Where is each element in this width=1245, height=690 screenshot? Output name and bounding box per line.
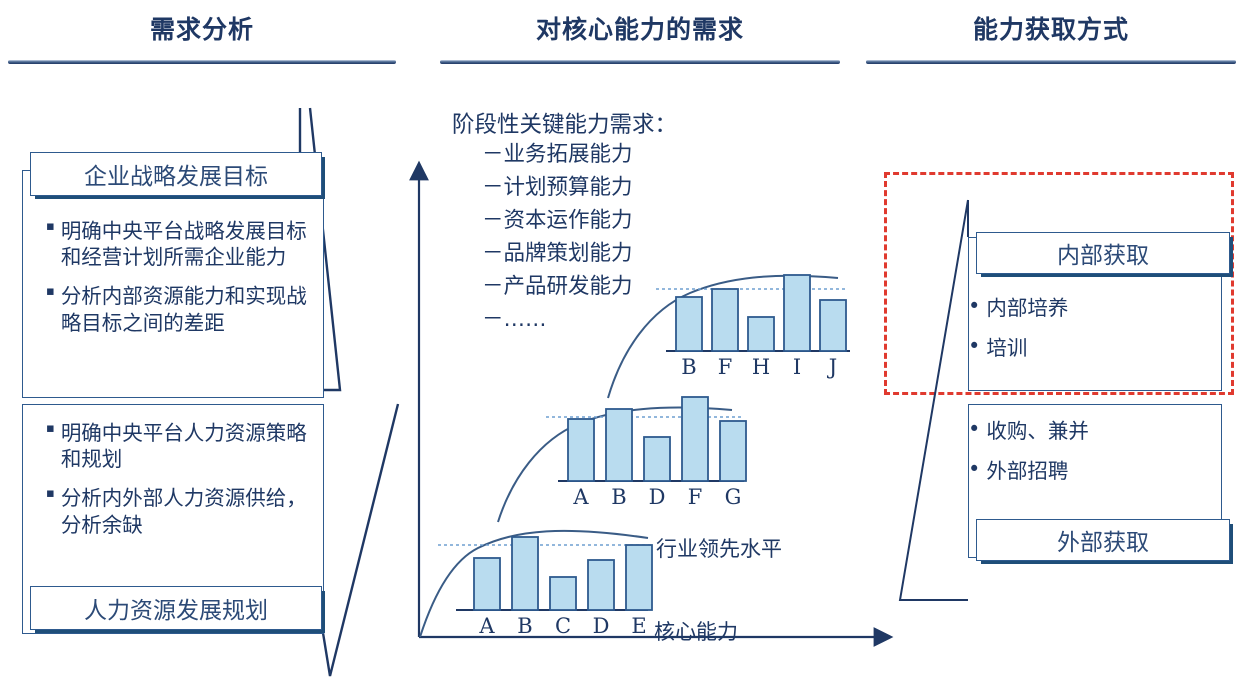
list-item: • 外部招聘 bbox=[968, 458, 1208, 485]
header-rule-middle bbox=[440, 60, 840, 64]
internal-acquisition-caption-label: 内部获取 bbox=[1057, 236, 1149, 270]
internal-acquisition-caption: 内部获取 bbox=[976, 232, 1230, 274]
list-item: ▪ 分析内部资源能力和实现战略目标之间的差距 bbox=[46, 283, 314, 335]
bullet-square-icon: ▪ bbox=[46, 219, 55, 236]
capability-item-3: －品牌策划能力 bbox=[482, 243, 633, 265]
chart-bottom-category-1: B bbox=[512, 614, 538, 638]
page-title-demand-analysis: 需求分析 bbox=[8, 10, 396, 46]
strategy-goal-caption: 企业战略发展目标 bbox=[30, 152, 322, 196]
chart-middle-category-2: D bbox=[644, 485, 670, 509]
list-item: • 内部培养 bbox=[968, 295, 1208, 322]
capability-item-2: －资本运作能力 bbox=[482, 210, 633, 232]
list-item-label: 外部招聘 bbox=[986, 458, 1208, 484]
list-item-label: 分析内部资源能力和实现战略目标之间的差距 bbox=[61, 283, 314, 335]
bullet-dot-icon: • bbox=[968, 456, 980, 483]
list-item-label: 培训 bbox=[986, 335, 1208, 361]
chart-bottom-category-2: C bbox=[550, 614, 576, 638]
capability-item-4: －产品研发能力 bbox=[482, 276, 633, 298]
bullet-square-icon: ▪ bbox=[46, 421, 55, 438]
list-item: ▪ 分析内外部人力资源供给，分析余缺 bbox=[46, 485, 314, 537]
bullet-square-icon: ▪ bbox=[46, 284, 55, 301]
xaxis-label: 核心能力 bbox=[654, 616, 738, 646]
list-item: ▪ 明确中央平台战略发展目标和经营计划所需企业能力 bbox=[46, 218, 314, 270]
bullet-dot-icon: • bbox=[968, 333, 980, 360]
hr-plan-caption-label: 人力资源发展规划 bbox=[84, 591, 268, 625]
stage-capability-heading: 阶段性关键能力需求： bbox=[452, 107, 677, 139]
bullet-dot-icon: • bbox=[968, 293, 980, 320]
list-item-label: 明确中央平台战略发展目标和经营计划所需企业能力 bbox=[61, 218, 314, 270]
list-item-label: 收购、兼并 bbox=[986, 418, 1208, 444]
page-title-capability-acquisition: 能力获取方式 bbox=[866, 10, 1236, 46]
capability-item-0: －业务拓展能力 bbox=[482, 144, 633, 166]
list-item-label: 内部培养 bbox=[986, 295, 1208, 321]
list-item: • 培训 bbox=[968, 335, 1208, 362]
header-rule-right bbox=[866, 60, 1236, 64]
strategy-goal-caption-label: 企业战略发展目标 bbox=[84, 157, 268, 191]
bullet-square-icon: ▪ bbox=[46, 486, 55, 503]
list-item: • 收购、兼并 bbox=[968, 418, 1208, 445]
list-item: ▪ 明确中央平台人力资源策略和规划 bbox=[46, 420, 314, 472]
chart-bottom-category-3: D bbox=[588, 614, 614, 638]
bullet-dot-icon: • bbox=[968, 416, 980, 443]
external-acquisition-bullets: • 收购、兼并 • 外部招聘 bbox=[968, 418, 1208, 498]
list-item-label: 分析内外部人力资源供给，分析余缺 bbox=[61, 485, 314, 537]
chart-middle-category-3: F bbox=[682, 485, 708, 509]
chart-top-category-3: I bbox=[784, 355, 810, 379]
chart-top-category-4: J bbox=[820, 355, 846, 379]
internal-acquisition-bullets: • 内部培养 • 培训 bbox=[968, 295, 1208, 375]
capability-item-1: －计划预算能力 bbox=[482, 177, 633, 199]
page-title-core-capability-demand: 对核心能力的需求 bbox=[440, 10, 840, 46]
strategy-goal-bullets: ▪ 明确中央平台战略发展目标和经营计划所需企业能力 ▪ 分析内部资源能力和实现战… bbox=[46, 218, 314, 349]
hr-plan-caption: 人力资源发展规划 bbox=[30, 586, 322, 630]
chart-bottom-category-0: A bbox=[474, 614, 500, 638]
chart-bottom-category-4: E bbox=[626, 614, 652, 638]
external-acquisition-caption: 外部获取 bbox=[976, 519, 1230, 561]
external-acquisition-caption-label: 外部获取 bbox=[1057, 523, 1149, 557]
chart-top-category-0: B bbox=[676, 355, 702, 379]
capability-item-5: －…… bbox=[482, 309, 547, 331]
benchmark-annotation: 行业领先水平 bbox=[656, 533, 782, 563]
chart-top-category-1: F bbox=[712, 355, 738, 379]
chart-middle-category-4: G bbox=[720, 485, 746, 509]
chart-middle-category-1: B bbox=[606, 485, 632, 509]
chart-top-category-2: H bbox=[748, 355, 774, 379]
chart-middle-category-0: A bbox=[568, 485, 594, 509]
list-item-label: 明确中央平台人力资源策略和规划 bbox=[61, 420, 314, 472]
header-rule-left bbox=[8, 60, 396, 64]
hr-plan-bullets: ▪ 明确中央平台人力资源策略和规划 ▪ 分析内外部人力资源供给，分析余缺 bbox=[46, 420, 314, 551]
